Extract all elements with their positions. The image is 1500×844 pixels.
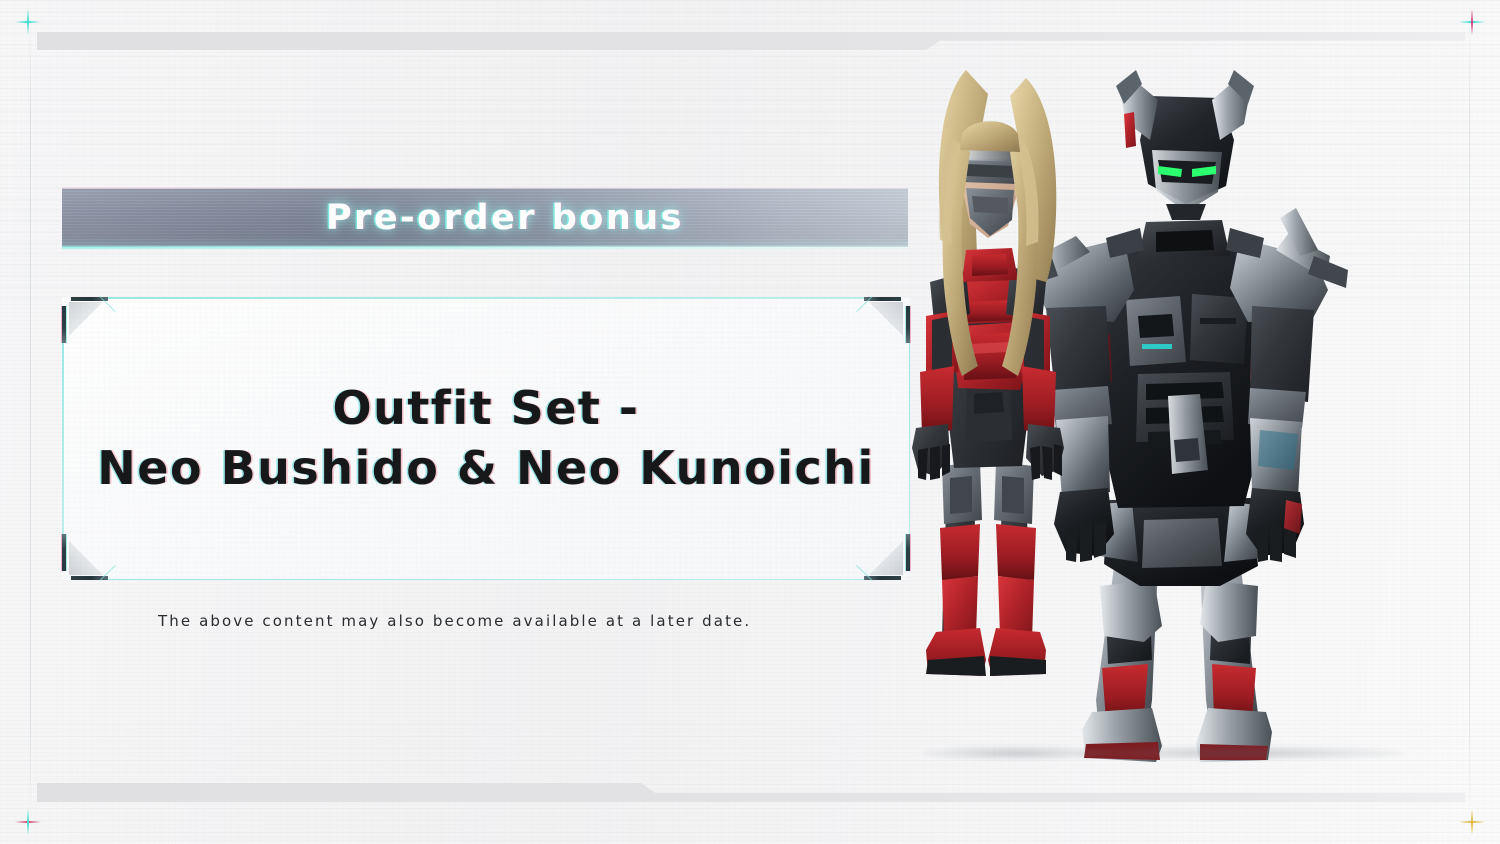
crosshair-marker-bottom-left	[15, 809, 41, 835]
frame-edge-right	[1469, 20, 1470, 824]
banner-title: Pre-order bonus	[62, 188, 908, 247]
crosshair-marker-bottom-right	[1459, 809, 1485, 835]
bonus-item-box: Outfit Set - Neo Bushido & Neo Kunoichi	[62, 297, 910, 580]
crosshair-marker-top-right	[1459, 9, 1485, 35]
crosshair-vertical-stroke	[1471, 809, 1473, 835]
preorder-bonus-banner: Pre-order bonus	[62, 188, 908, 247]
crosshair-vertical-stroke	[27, 9, 29, 35]
crosshair-vertical-stroke	[27, 809, 29, 835]
crosshair-marker-top-left	[15, 9, 41, 35]
disclaimer-text: The above content may also become availa…	[158, 612, 751, 630]
bonus-item-title: Outfit Set - Neo Bushido & Neo Kunoichi	[62, 297, 910, 580]
bonus-title-line-2: Neo Bushido & Neo Kunoichi	[97, 444, 875, 494]
frame-edge-left	[30, 20, 31, 824]
bonus-title-line-1: Outfit Set -	[332, 384, 639, 434]
crosshair-vertical-stroke	[1471, 9, 1473, 35]
preorder-bonus-slide: Pre-order bonus	[0, 0, 1500, 844]
